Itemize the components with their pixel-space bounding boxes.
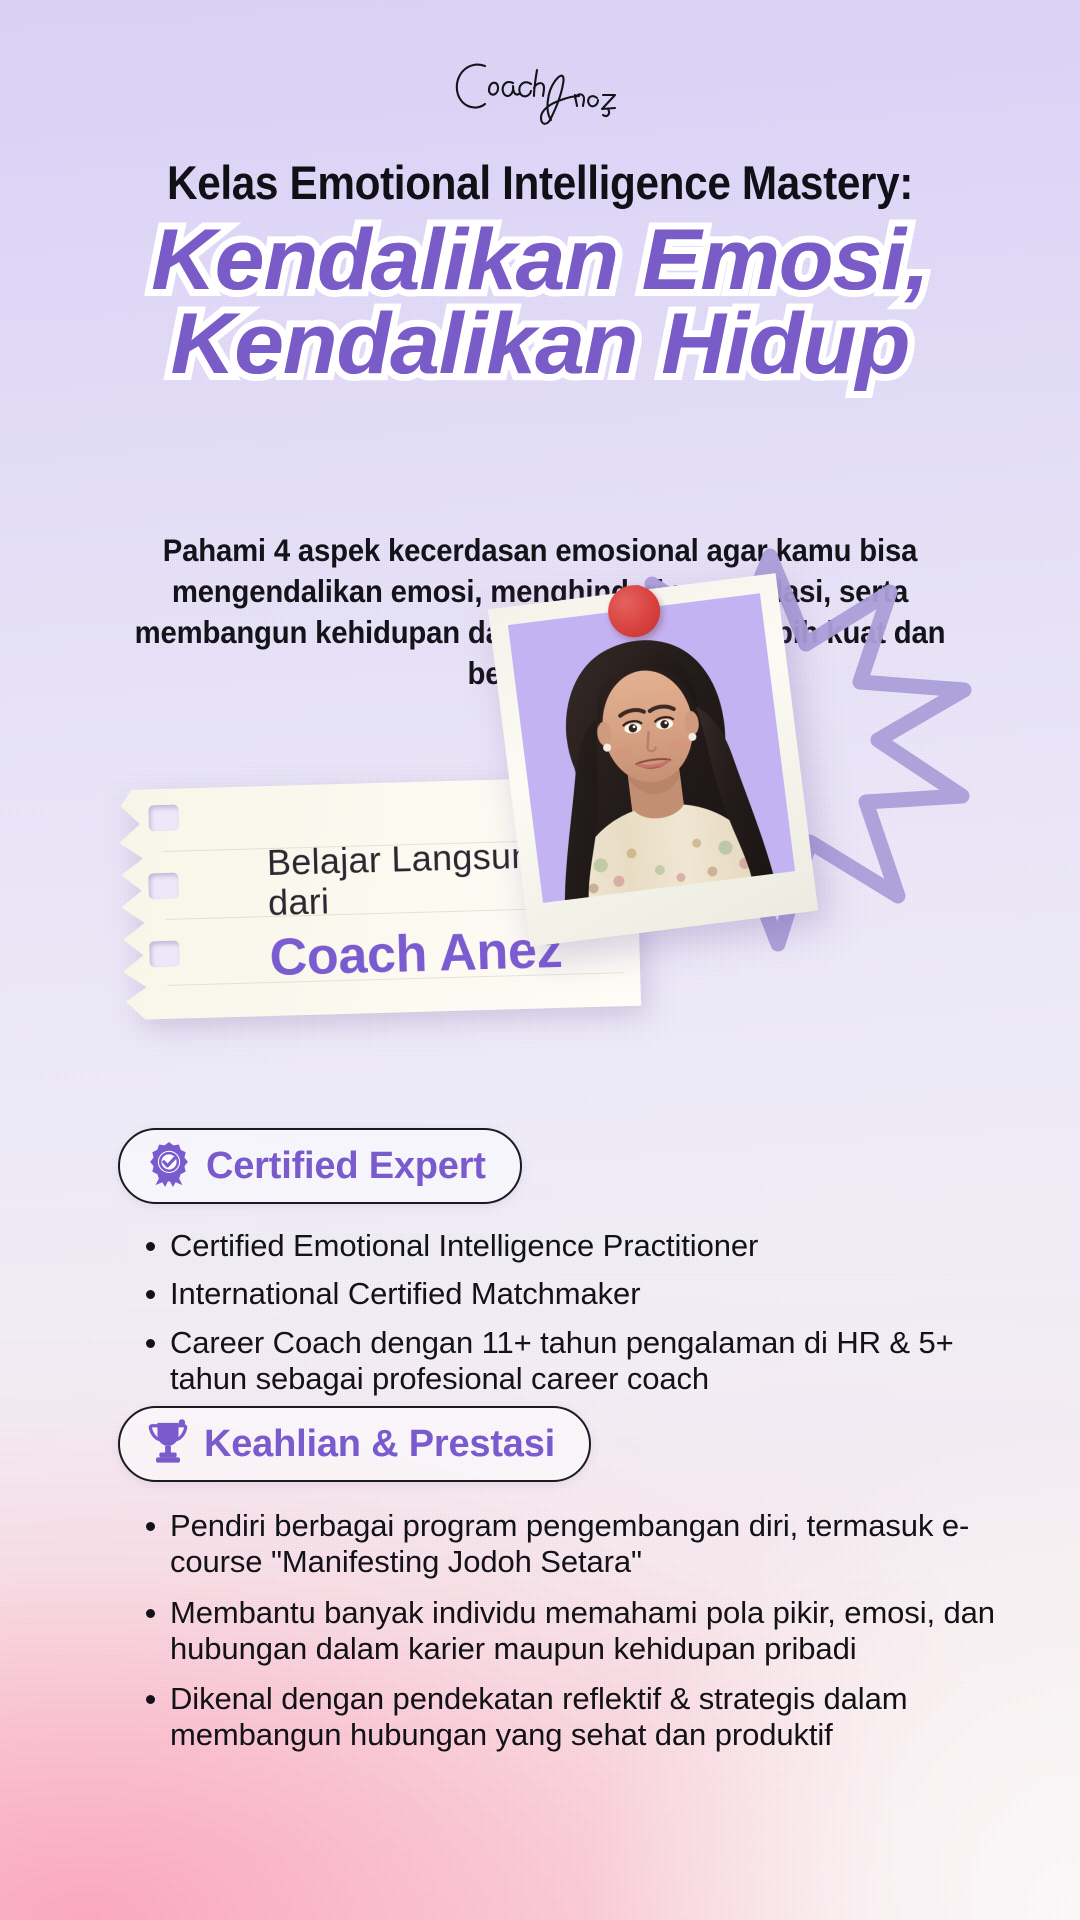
badge-label: Keahlian & Prestasi — [204, 1423, 555, 1466]
keahlian-prestasi-list: Pendiri berbagai program pengembangan di… — [132, 1508, 1000, 1768]
badge-label: Certified Expert — [206, 1145, 486, 1188]
list-item: Membantu banyak individu memahami pola p… — [132, 1595, 1000, 1668]
list-item: Certified Emotional Intelligence Practit… — [132, 1228, 1000, 1264]
badge-certified-expert[interactable]: Certified Expert — [118, 1128, 522, 1204]
poster-canvas: Kelas Emotional Intelligence Mastery: Ke… — [0, 0, 1080, 1920]
brand-logo — [0, 48, 1080, 138]
list-item: Dikenal dengan pendekatan reflektif & st… — [132, 1681, 1000, 1754]
badge-keahlian-prestasi[interactable]: Keahlian & Prestasi — [118, 1406, 591, 1482]
ticket-notch-icon — [148, 805, 179, 832]
coach-polaroid-photo — [488, 573, 818, 947]
headline-line-1-outline: Kendalikan Emosi, — [0, 218, 1080, 302]
list-item: Pendiri berbagai program pengembangan di… — [132, 1508, 1000, 1581]
list-item: Career Coach dengan 11+ tahun pengalaman… — [132, 1325, 1000, 1398]
page-kicker: Kelas Emotional Intelligence Mastery: — [54, 155, 1026, 210]
ticket-notch-icon — [149, 941, 180, 968]
list-item: International Certified Matchmaker — [132, 1276, 1000, 1312]
page-headline-outline: Kendalikan Emosi, Kendalikan Hidup — [0, 218, 1080, 387]
certified-expert-list: Certified Emotional Intelligence Practit… — [132, 1228, 1000, 1409]
trophy-icon — [146, 1419, 190, 1470]
award-badge-icon — [146, 1141, 192, 1192]
ticket-notch-icon — [148, 873, 179, 900]
headline-line-2-outline: Kendalikan Hidup — [0, 302, 1080, 386]
polaroid-photo-area — [508, 593, 795, 903]
